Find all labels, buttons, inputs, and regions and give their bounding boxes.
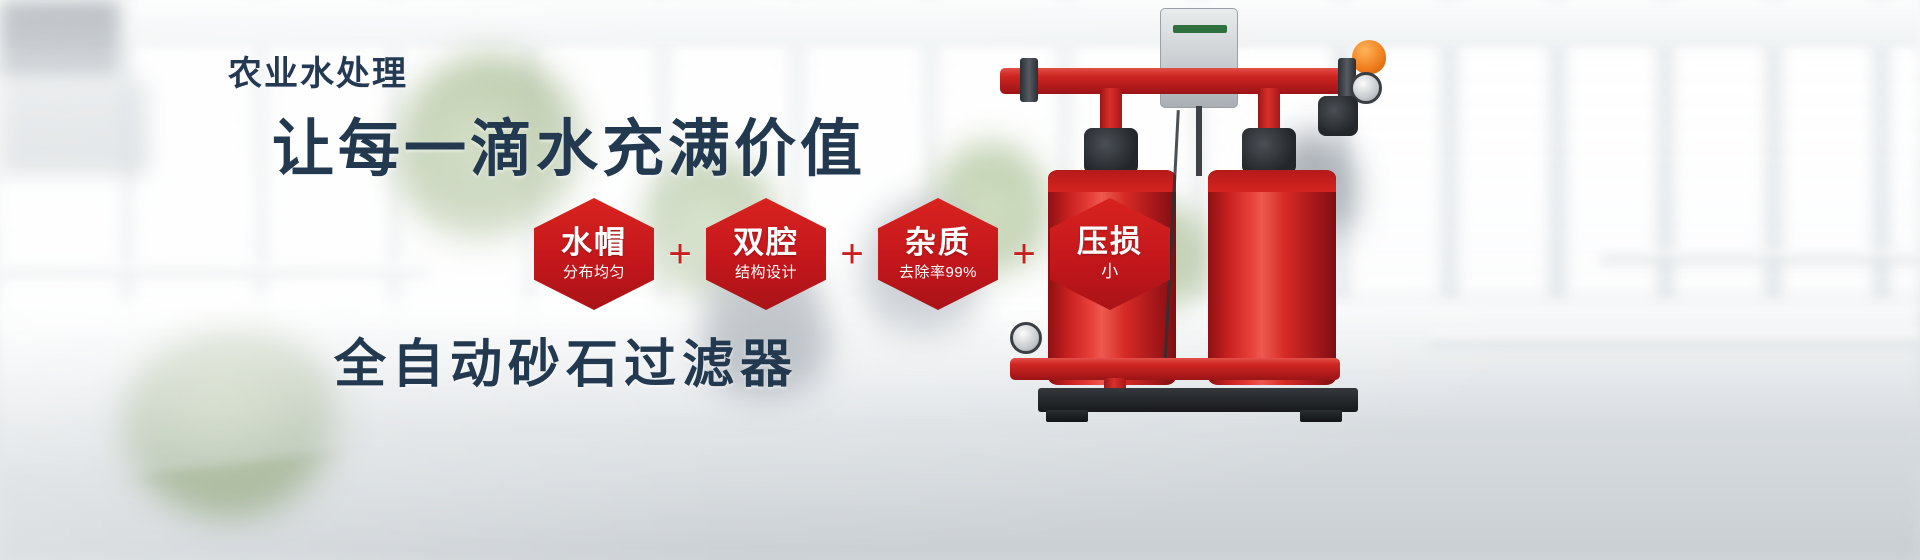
feature-badge-3-title: 杂质 (905, 227, 971, 260)
feature-badge-3[interactable]: 杂质 去除率99% (878, 198, 998, 310)
plus-separator-2: + (826, 234, 878, 274)
plus-separator-3: + (998, 234, 1050, 274)
pressure-gauge (1010, 322, 1042, 354)
top-manifold-pipe (1000, 68, 1352, 94)
feature-badge-2-title: 双腔 (733, 227, 799, 260)
feature-badge-row: 水帽 分布均匀 + 双腔 结构设计 + 杂质 去除率99% + 压损 小 (534, 198, 1170, 310)
feature-badge-4-title: 压损 (1077, 226, 1143, 259)
promo-banner: 农业水处理 让每一滴水充满价值 全自动砂石过滤器 水帽 分布均匀 + 双腔 结构… (0, 0, 1920, 560)
valve (1084, 128, 1138, 174)
plus-separator-1: + (654, 234, 706, 274)
filter-tank-right (1208, 170, 1336, 385)
banner-headline: 让每一滴水充满价值 (272, 98, 866, 188)
machine-foot (1046, 410, 1088, 422)
bottom-manifold-pipe (1010, 358, 1340, 380)
pipe-flange (1020, 58, 1038, 102)
banner-eyebrow: 农业水处理 (228, 46, 408, 95)
machine-foot (1300, 410, 1342, 422)
feature-badge-4-sub: 小 (1101, 263, 1119, 282)
feature-badge-3-sub: 去除率99% (899, 265, 977, 282)
controller-pole (1196, 106, 1202, 176)
feature-badge-1-sub: 分布均匀 (563, 265, 625, 282)
feature-badge-1[interactable]: 水帽 分布均匀 (534, 198, 654, 310)
feature-badge-2-sub: 结构设计 (735, 265, 797, 282)
orange-valve-icon (1352, 40, 1386, 74)
feature-badge-4[interactable]: 压损 小 (1050, 198, 1170, 310)
feature-badge-2[interactable]: 双腔 结构设计 (706, 198, 826, 310)
valve (1318, 96, 1358, 136)
feature-badge-1-title: 水帽 (561, 227, 627, 260)
banner-subheadline: 全自动砂石过滤器 (334, 322, 798, 397)
machine-base-frame (1038, 388, 1358, 412)
valve (1242, 128, 1296, 174)
